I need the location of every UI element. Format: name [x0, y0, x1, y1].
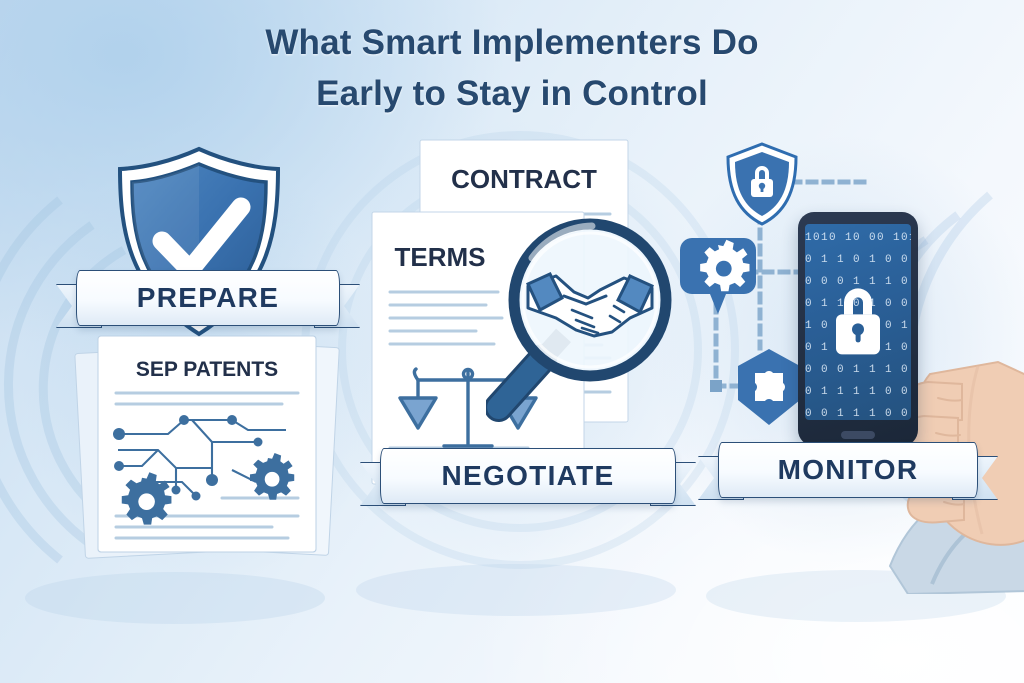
- panel-negotiate: CONTRACT TERMS: [368, 136, 688, 556]
- shield-lock-icon: [724, 141, 800, 227]
- binary-row: 0 1 1 1 1 0 0 1 1 0 1 1 1: [805, 386, 911, 398]
- ribbon-negotiate: NEGOTIATE: [362, 448, 694, 504]
- infographic-canvas: What Smart Implementers Do Early to Stay…: [0, 0, 1024, 683]
- title-line-1: What Smart Implementers Do: [265, 23, 758, 62]
- ribbon-label-monitor: MONITOR: [778, 454, 919, 486]
- page-title: What Smart Implementers Do Early to Stay…: [0, 18, 1024, 120]
- gear-badge-icon: [678, 232, 758, 324]
- panel-monitor: 1010 10 00 1010 10 00 1 1 0 1 0 0 1 1 1 …: [676, 136, 1024, 566]
- document-title-terms: TERMS: [395, 242, 486, 272]
- binary-row: 0 0 1 1 1 0 0 0 0 0 0 0 0: [805, 408, 911, 420]
- binary-row: 1010 10 00 1010 10 0: [805, 232, 911, 244]
- ribbon-monitor: MONITOR: [700, 442, 996, 498]
- smartphone[interactable]: 1010 10 00 1010 10 00 1 1 0 1 0 0 1 1 1 …: [798, 212, 918, 446]
- ribbon-prepare: PREPARE: [58, 270, 358, 326]
- binary-row: 0 1 1 0 1 0 0 1 1 1 0 1: [805, 254, 911, 266]
- document-title-sep-patents: SEP PATENTS: [136, 358, 278, 381]
- panel-prepare: SEP PATENTS: [58, 140, 358, 570]
- document-title-contract: CONTRACT: [451, 164, 597, 194]
- title-line-2: Early to Stay in Control: [0, 69, 1024, 120]
- ribbon-label-prepare: PREPARE: [137, 282, 279, 314]
- ribbon-label-negotiate: NEGOTIATE: [442, 460, 615, 492]
- sep-patents-document-stack: SEP PATENTS: [72, 330, 344, 565]
- puzzle-shield-icon: [732, 346, 806, 430]
- ribbon-plate: NEGOTIATE: [380, 448, 676, 504]
- phone-screen[interactable]: 1010 10 00 1010 10 00 1 1 0 1 0 0 1 1 1 …: [805, 224, 911, 420]
- ribbon-plate: PREPARE: [76, 270, 340, 326]
- padlock-icon: [824, 280, 892, 360]
- ribbon-plate: MONITOR: [718, 442, 978, 498]
- binary-row: 0 0 0 1 1 1 0 1 0 1 1 0 0: [805, 364, 911, 376]
- phone-home-button[interactable]: [841, 431, 875, 439]
